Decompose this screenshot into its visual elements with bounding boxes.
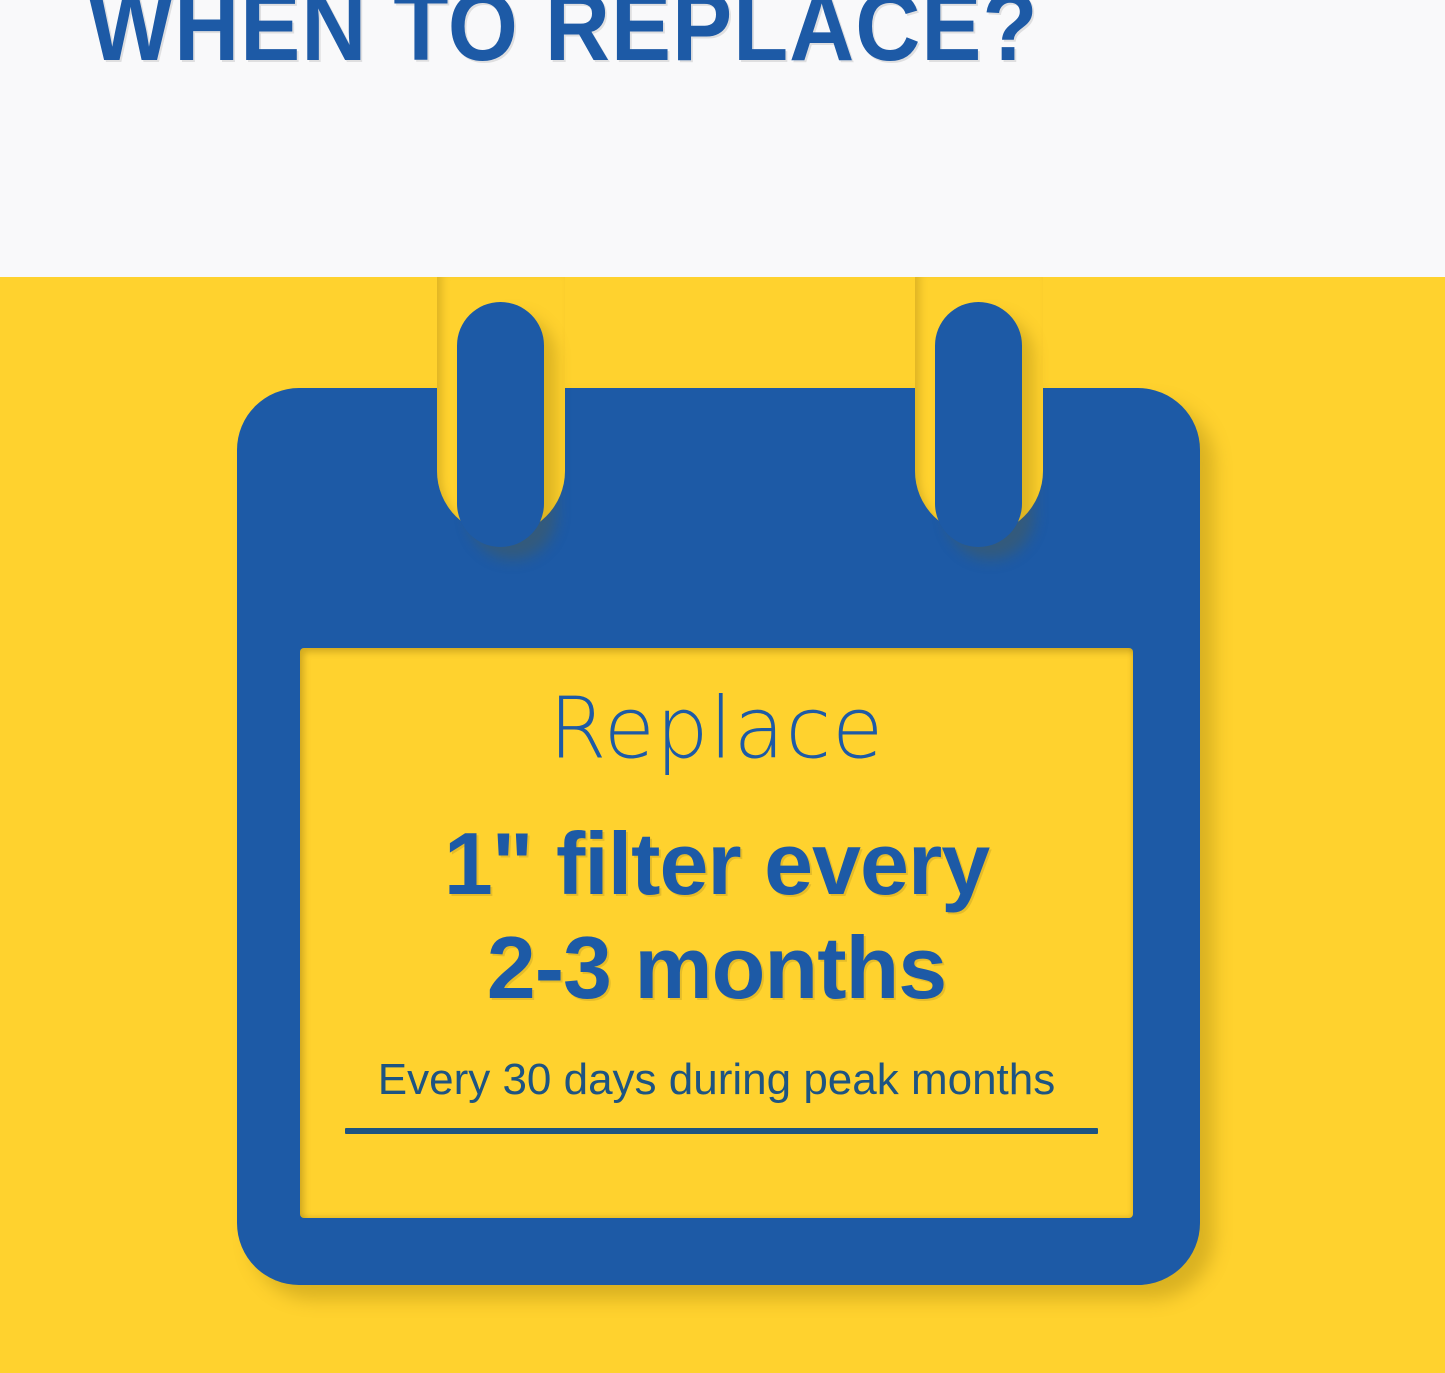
replace-interval-headline: 1" filter every 2-3 months [300, 812, 1133, 1020]
header-band: WHEN TO REPLACE? [0, 0, 1445, 277]
calendar-page: Replace 1" filter every 2-3 months Every… [300, 648, 1133, 1218]
replace-kicker: Replace [300, 686, 1133, 771]
infographic-canvas: WHEN TO REPLACE? Replace 1" filter every… [0, 0, 1445, 1373]
page-title: WHEN TO REPLACE? [88, 0, 1038, 75]
replace-interval-line-2: 2-3 months [300, 916, 1133, 1020]
calendar-ring-right [935, 302, 1022, 547]
calendar-page-text: Replace 1" filter every 2-3 months Every… [300, 648, 1133, 1218]
calendar-ring-left [457, 302, 544, 547]
yellow-panel: Replace 1" filter every 2-3 months Every… [0, 277, 1445, 1373]
calendar-icon: Replace 1" filter every 2-3 months Every… [237, 388, 1200, 1285]
peak-months-note: Every 30 days during peak months [300, 1056, 1133, 1104]
replace-interval-line-1: 1" filter every [300, 812, 1133, 916]
peak-months-underline [345, 1128, 1098, 1134]
